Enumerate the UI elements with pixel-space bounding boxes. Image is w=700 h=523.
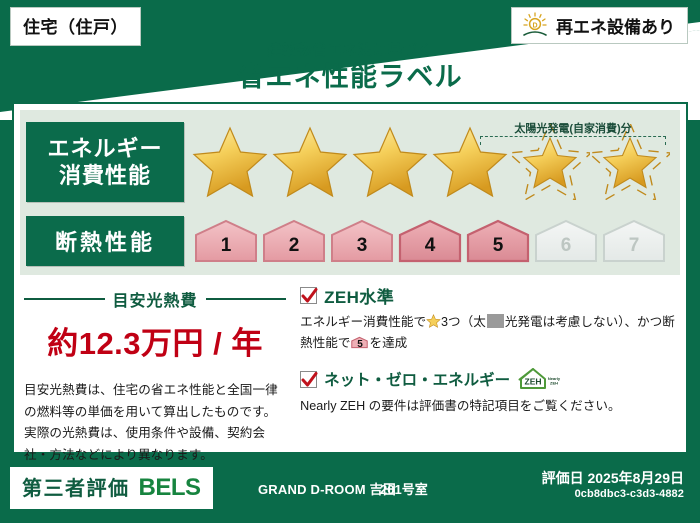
insulation-level-1-num: 1 bbox=[221, 235, 232, 264]
insulation-level-7-num: 7 bbox=[629, 235, 640, 264]
utility-cost-heading: 目安光熱費 bbox=[24, 287, 286, 311]
zeh-column: ZEH水準 エネルギー消費性能で3つ（太光発電は考慮しない）、かつ断熱性能で5を… bbox=[294, 281, 676, 451]
label-card: エネルギー 消費性能 太陽光発電(自家消費)分 bbox=[12, 102, 688, 454]
energy-performance-row: エネルギー 消費性能 太陽光発電(自家消費)分 bbox=[20, 114, 680, 210]
solar-note-label: 太陽光発電(自家消費)分 bbox=[478, 120, 668, 136]
zeh-standard-checkbox[interactable] bbox=[300, 287, 317, 304]
label-title: 建築物省エネ法に基づく 省エネ性能ラベル bbox=[0, 43, 700, 94]
insulation-level-6-num: 6 bbox=[561, 235, 572, 264]
bels-jp-label: 第三者評価 bbox=[22, 472, 130, 501]
solar-bracket bbox=[480, 136, 666, 145]
energy-tag-line1: エネルギー bbox=[47, 135, 162, 163]
solar-sun-icon: D bbox=[520, 12, 550, 38]
insulation-level-2: 2 bbox=[261, 218, 327, 264]
zeh-netzero-heading: ネット・ゼロ・エネルギー ZEH Nearly ZEH bbox=[300, 366, 676, 392]
evaluation-id: 0cb8dbc3-c3d3-4882 bbox=[575, 488, 684, 500]
utility-cost-column: 目安光熱費 約12.3万円 / 年 目安光熱費は、住宅の省エネ性能と全国一律の燃… bbox=[24, 281, 294, 451]
evaluation-date: 評価日 2025年8月29日 bbox=[542, 468, 684, 488]
inline-star-icon bbox=[426, 314, 441, 328]
insulation-performance-tag: 断熱性能 bbox=[26, 216, 184, 266]
heading-rule-right bbox=[206, 298, 287, 300]
checkmark-icon bbox=[300, 370, 319, 390]
utility-cost-heading-text: 目安光熱費 bbox=[113, 287, 198, 311]
insulation-level-5: 5 bbox=[465, 218, 531, 264]
bels-certification-box: 第三者評価 BELS bbox=[10, 467, 213, 509]
energy-tag-line2: 消費性能 bbox=[59, 162, 151, 190]
insulation-performance-row: 断熱性能 1 bbox=[20, 210, 680, 272]
checkmark-icon bbox=[300, 286, 319, 306]
zeh-netzero-block: ネット・ゼロ・エネルギー ZEH Nearly ZEH Nearly ZEH の… bbox=[300, 366, 676, 417]
zeh-netzero-title: ネット・ゼロ・エネルギー bbox=[324, 368, 510, 390]
heading-rule-left bbox=[24, 298, 105, 300]
renewable-equipment-badge: D 再エネ設備あり bbox=[511, 7, 688, 44]
utility-cost-note: 目安光熱費は、住宅の省エネ性能と全国一律の燃料等の単価を用いて算出したものです。… bbox=[24, 380, 286, 467]
star-filled-1 bbox=[190, 124, 270, 200]
zeh-text-part1: エネルギー消費性能で bbox=[300, 315, 426, 329]
label-footer: 第三者評価 BELS GRAND D-ROOM 吉田 201号室 評価日 202… bbox=[0, 457, 700, 523]
building-name: GRAND D-ROOM 吉田 bbox=[258, 479, 396, 498]
redacted-character bbox=[487, 314, 504, 328]
bels-energy-label: 住宅（住戸） D 再エネ設備あり 建築物省エネ法に基づく 省エネ bbox=[0, 0, 700, 523]
insulation-level-scale: 1 2 3 bbox=[184, 218, 674, 264]
insulation-level-2-num: 2 bbox=[289, 235, 300, 264]
zeh-standard-block: ZEH水準 エネルギー消費性能で3つ（太光発電は考慮しない）、かつ断熱性能で5を… bbox=[300, 283, 676, 354]
zeh-standard-title: ZEH水準 bbox=[324, 283, 394, 308]
insulation-level-4: 4 bbox=[397, 218, 463, 264]
title-main: 省エネ性能ラベル bbox=[0, 61, 700, 95]
zeh-house-logo: ZEH Nearly ZEH bbox=[517, 366, 563, 392]
star-filled-3 bbox=[350, 124, 430, 200]
insulation-level-6: 6 bbox=[533, 218, 599, 264]
insulation-level-3: 3 bbox=[329, 218, 395, 264]
insulation-level-3-num: 3 bbox=[357, 235, 368, 264]
energy-performance-tag: エネルギー 消費性能 bbox=[26, 122, 184, 202]
svg-text:ZEH: ZEH bbox=[550, 381, 558, 386]
zeh-netzero-checkbox[interactable] bbox=[300, 371, 317, 388]
performance-panel: エネルギー 消費性能 太陽光発電(自家消費)分 bbox=[20, 110, 680, 275]
star-filled-2 bbox=[270, 124, 350, 200]
bels-en-label: BELS bbox=[139, 474, 201, 502]
insulation-level-4-num: 4 bbox=[425, 235, 436, 264]
zeh-text-part2: 3つ（太 bbox=[441, 315, 486, 329]
insulation-level-1: 1 bbox=[193, 218, 259, 264]
zeh-standard-text: エネルギー消費性能で3つ（太光発電は考慮しない）、かつ断熱性能で5を達成 bbox=[300, 312, 676, 354]
zeh-text-part4: を達成 bbox=[369, 336, 407, 350]
insulation-level-7: 7 bbox=[601, 218, 667, 264]
lower-content: 目安光熱費 約12.3万円 / 年 目安光熱費は、住宅の省エネ性能と全国一律の燃… bbox=[14, 275, 686, 451]
svg-text:D: D bbox=[532, 23, 537, 30]
renewable-badge-label: 再エネ設備あり bbox=[556, 13, 675, 38]
zeh-standard-heading: ZEH水準 bbox=[300, 283, 676, 308]
energy-star-rating: 太陽光発電(自家消費)分 bbox=[184, 124, 674, 200]
insulation-level-5-num: 5 bbox=[493, 235, 504, 264]
room-number: 201号室 bbox=[380, 479, 428, 498]
zeh-netzero-text: Nearly ZEH の要件は評価書の特記項目をご覧ください。 bbox=[300, 396, 676, 417]
inline-house-num: 5 bbox=[351, 340, 368, 350]
housing-type-badge: 住宅（住戸） bbox=[10, 7, 141, 46]
utility-cost-value: 約12.3万円 / 年 bbox=[24, 318, 286, 363]
inline-house-icon: 5 bbox=[351, 335, 368, 350]
svg-text:ZEH: ZEH bbox=[525, 377, 542, 387]
